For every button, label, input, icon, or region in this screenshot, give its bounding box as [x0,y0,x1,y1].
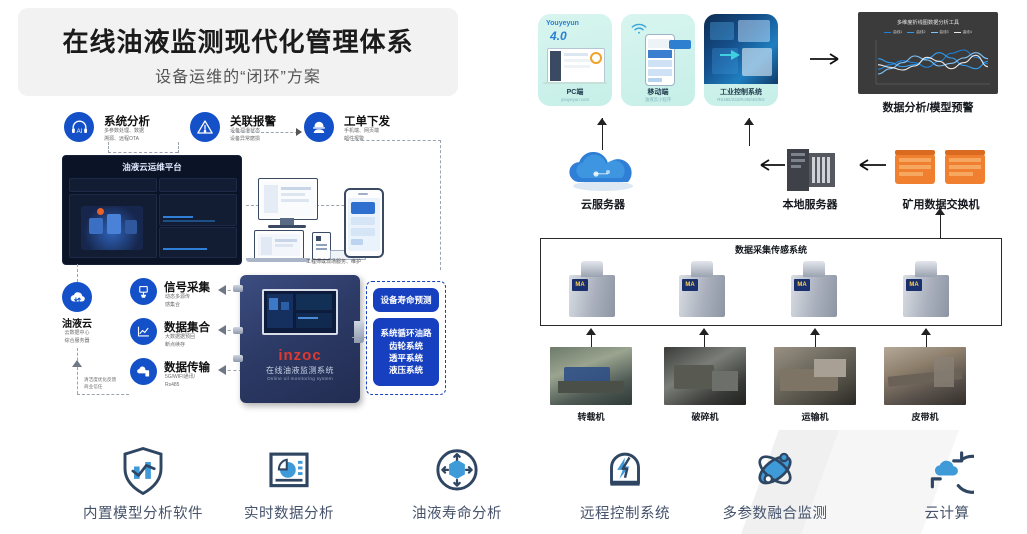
node-title-signal: 信号采集 [164,279,210,295]
node-title-alarm: 关联报警 [230,113,276,129]
app-brand: Youyeyun [546,20,579,27]
node-sub-alarm: 设备润滑状态 设备异常磨损 [230,128,260,143]
node-sub-line: 多参数处理、数据 [104,128,144,136]
mining-switch-icon [893,146,989,199]
cube-expand-icon [382,440,532,502]
arrow-icon [586,328,596,335]
worker-helmet-icon [304,112,334,142]
sensor-probe-icon [130,278,157,305]
feature-realtime-data-analysis[interactable]: 实时数据分析 [214,440,364,523]
node-sub-line: 感集合 [165,302,190,310]
equipment-label-conveyor: 运输机 [774,410,856,423]
connector-cloud-down [77,348,78,394]
legend-item: 曲线2 [907,30,925,35]
connector-node2-drop [178,142,179,153]
unit-display-screen [262,289,338,335]
feature-label: 内置模型分析软件 [68,502,218,523]
pc-laptop-illustration [547,48,605,84]
app-sub-pc: youyeyun.com [538,97,612,102]
sensor-system-frame: 数据采集传感系统 MA MA MA MA [540,238,1002,326]
app-sub-mobile: 油液云小程序 [621,97,695,103]
connector-cloud-bottom [77,394,129,395]
cloud-refresh-icon [872,440,1022,502]
cloud-node-sub-line: 云数据中心 [50,329,104,337]
legend-label: 曲线2 [916,30,925,35]
app-card-pc[interactable]: Youyeyun 4.0 PC端 youyeyun.com [538,14,612,106]
equipment-label-transfer-machine: 转载机 [550,410,632,423]
node-sub-system-analysis: 多参数处理、数据 溯源、远程OTA [104,128,144,143]
app-label-pc: PC端 [538,87,612,97]
feature-oil-life-analysis[interactable]: 油液寿命分析 [382,440,532,523]
arrow-server-to-cloud [755,158,785,176]
connector-workorder-top [346,140,441,141]
equipment-label-crusher: 破碎机 [664,410,746,423]
prediction-systems-pill: 系统循环油路 齿轮系统 透平系统 液压系统 [373,318,439,386]
lightning-panel-icon [550,440,700,502]
node-title-system-analysis: 系统分析 [104,113,150,129]
legend-item: 曲线4 [954,30,972,35]
feature-label: 实时数据分析 [214,502,364,523]
feature-remote-control-system[interactable]: 远程控制系统 [550,440,700,523]
sensor-badge: MA [682,279,698,291]
unit-brand: inzoc [240,347,360,364]
smartphone [344,188,384,258]
title-card: 在线油液监测现代化管理体系 设备运维的“闭环”方案 [18,8,458,96]
cloud-sync-icon [62,282,92,312]
app-card-industrial[interactable]: 工业控制系统 RS485/232/RJ45/4G/5G [704,14,778,106]
monitor-stand [280,218,294,225]
chart-line-icon [130,318,157,345]
sensor-unit: MA [669,261,735,317]
feature-label: 多参数融合监测 [700,502,850,523]
node-sub-line: 大数据据预回 [165,334,195,342]
desktop-monitor [258,178,318,220]
page-subtitle: 设备运维的“闭环”方案 [18,63,458,87]
equipment-photo-conveyor [774,347,856,405]
node-label-local-server: 本地服务器 [760,196,860,212]
engineer-note: 工程师或现场服务、维护 [306,258,361,265]
feature-cloud-computing[interactable]: 云计算 [872,440,1022,523]
warning-triangle-icon [190,112,220,142]
cloud-node-sub: 云数据中心 综合服务器 [50,329,104,345]
connector-cloud-up [77,264,78,282]
chart-legend: 曲线1 曲线2 曲线3 曲线4 [858,30,998,35]
platform-screen-title: 油液云运维平台 [63,161,241,173]
sensor-badge: MA [906,279,922,291]
node-title-aggregation: 数据集合 [164,319,210,335]
feature-label: 油液寿命分析 [382,502,532,523]
ai-headset-icon: AI [64,112,94,142]
equipment-photo-transfer-machine [550,347,632,405]
app-sub-industrial: RS485/232/RJ45/4G/5G [704,97,778,102]
node-sub-line: 溯源、远程OTA [104,136,144,144]
node-label-cloud-server: 云服务器 [553,196,653,212]
cloud-platform-screen: 油液云运维平台 [62,155,242,265]
node-sub-line: 设备异常磨损 [230,136,260,144]
shield-chart-icon [68,440,218,502]
local-server-icon [779,145,841,200]
chart-title: 多维度折线图数据分析工具 [858,19,998,26]
feature-multiparam-fusion-monitoring[interactable]: 多参数融合监测 [700,440,850,523]
unit-name-en: Online oil monitoring system [240,376,360,381]
system-item: 透平系统 [389,352,423,364]
sensor-unit: MA [781,261,847,317]
arrow-icon [935,208,945,215]
app-label-industrial: 工业控制系统 [704,87,778,97]
arrow-icon [218,365,226,375]
app-card-mobile[interactable]: 移动端 油液云小程序 [621,14,695,106]
cloud-node-sub-line: 综合服务器 [50,337,104,345]
arrow-icon [296,128,302,136]
arrow-icon [218,325,226,335]
page-title: 在线油液监测现代化管理体系 [18,22,458,59]
legend-label: 曲线3 [940,30,949,35]
cloud-upload-icon [130,358,157,385]
arrow-icon [597,118,607,125]
atom-orbit-icon [700,440,850,502]
equipment-photo-crusher [664,347,746,405]
arrow-icon [921,328,931,335]
system-item: 液压系统 [389,364,423,376]
app-label-mobile: 移动端 [621,87,695,97]
cloud-bottom-note: 清洁度优化反馈商业信任 [84,376,116,391]
connector-workorder-down [440,140,441,270]
node-sub-line: 断点续存 [165,342,195,350]
cloud-server-icon [558,152,648,199]
connector-node1-drop [108,142,109,153]
legend-label: 曲线1 [893,30,902,35]
node-sub-signal: 动态多源传 感集合 [165,294,190,309]
laptop-base [246,258,310,262]
legend-label: 曲线4 [963,30,972,35]
node-sub-transmission: 5G/WIFI通讯/ Rs485 [165,374,195,389]
feature-label: 云计算 [872,502,1022,523]
unit-name-cn: 在线油液监测系统 [240,365,360,376]
arrow-switch-to-server [852,158,886,176]
node-title-transmission: 数据传输 [164,359,210,375]
prediction-headline-pill: 设备寿命预测 [373,288,439,312]
node-title-workorder: 工单下发 [344,113,390,129]
sensor-frame-title: 数据采集传感系统 [541,243,1001,256]
node-sub-line: 手机端、网页端 [344,128,379,136]
connector-unit-to-pred [352,337,366,338]
legend-item: 曲线1 [884,30,902,35]
cloud-node-title: 油液云 [56,315,98,330]
monitor-base [268,225,306,228]
node-sub-line: 动态多源传 [165,294,190,302]
arrow-icon [699,328,709,335]
analysis-chart-panel: 多维度折线图数据分析工具 曲线1 曲线2 曲线3 曲线4 [858,12,998,94]
node-sub-aggregation: 大数据据预回 断点续存 [165,334,195,349]
chart-plot [868,38,992,90]
arrow-icon [218,285,226,295]
desktop-pc-tower [312,232,331,260]
laptop [254,230,304,260]
node-sub-line: 5G/WIFI通讯/ [165,374,195,382]
node-sub-line: Rs485 [165,382,195,390]
legend-item: 曲线3 [931,30,949,35]
app-version: 4.0 [550,29,567,43]
connector-alarm-to-workorder [232,132,298,133]
sensor-badge: MA [794,279,810,291]
inzoc-monitoring-unit: inzoc 在线油液监测系统 Online oil monitoring sys… [240,275,360,403]
feature-label: 远程控制系统 [550,502,700,523]
arrow-to-analysis [810,52,848,71]
system-item: 齿轮系统 [389,340,423,352]
arrow-icon [744,118,754,125]
connector-node1-bottom [108,152,178,153]
arrow-icon [810,328,820,335]
pie-chart-panel-icon [214,440,364,502]
equipment-photo-belt-machine [884,347,966,405]
prediction-dashed-box: 设备寿命预测 系统循环油路 齿轮系统 透平系统 液压系统 [366,281,446,395]
sensor-unit: MA [559,261,625,317]
sensor-unit: MA [893,261,959,317]
feature-builtin-model-software[interactable]: 内置模型分析软件 [68,440,218,523]
analysis-panel-label: 数据分析/模型预警 [858,99,998,115]
arrow-icon [72,360,82,367]
svg-text:AI: AI [76,128,82,135]
equipment-label-belt-machine: 皮带机 [884,410,966,423]
sensor-badge: MA [572,279,588,291]
industrial-control-illustration [704,14,778,84]
system-item: 系统循环油路 [380,327,431,339]
